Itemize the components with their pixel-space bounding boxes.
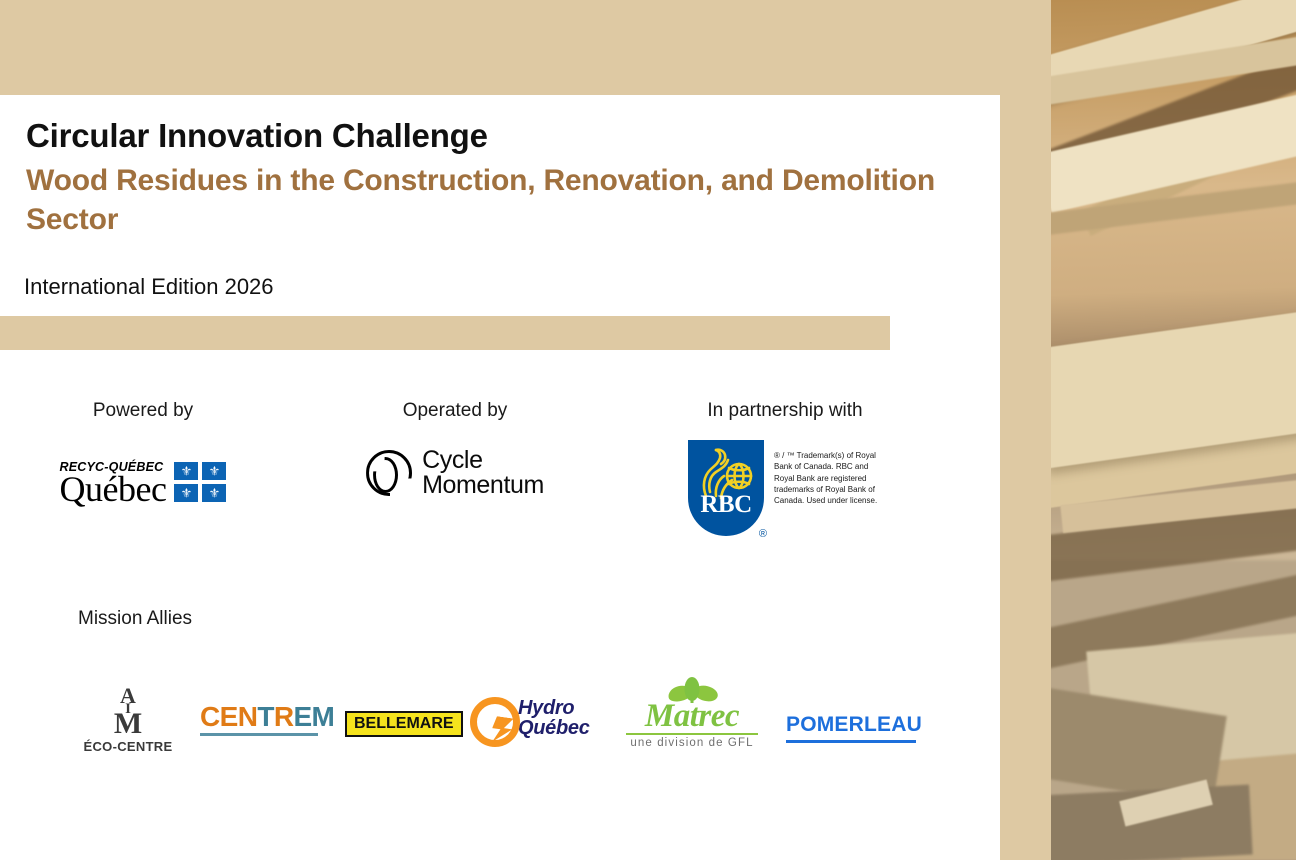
fleur-de-lis-icon <box>202 484 226 502</box>
hydro-quebec-wordmark: Hydro Québec <box>518 698 590 739</box>
page-title: Circular Innovation Challenge <box>26 118 976 154</box>
aim-monogram-icon: A I M <box>97 685 159 735</box>
centrem-part2: T <box>257 701 274 732</box>
cycle-momentum-logo: Cycle Momentum <box>340 440 570 506</box>
hydro-quebec-line2: Québec <box>518 718 590 738</box>
recyc-quebec-wordmark: RECYC-QUÉBEC Québec <box>60 460 167 506</box>
rbc-shield-icon: RBC ® <box>688 440 764 536</box>
centrem-underline <box>200 733 318 736</box>
cycle-momentum-wordmark: Cycle Momentum <box>422 448 544 499</box>
lightning-bolt-icon <box>490 716 513 745</box>
rbc-logo: RBC ® ® / ™ Trademark(s) of Royal Bank o… <box>660 440 910 540</box>
cycle-momentum-line1: Cycle <box>422 448 544 474</box>
hydro-quebec-logo: Hydro Québec <box>468 695 590 741</box>
pomerleau-wordmark: POMERLEAU <box>786 713 922 737</box>
rbc-wordmark: RBC <box>688 491 764 519</box>
fleur-de-lis-icon <box>202 462 226 480</box>
cycle-momentum-line2: Momentum <box>422 473 544 499</box>
in-partnership-heading: In partnership with <box>660 400 910 422</box>
bellemare-wordmark: BELLEMARE <box>345 711 463 737</box>
quebec-flag-icon <box>174 462 226 502</box>
pomerleau-underline <box>786 740 916 743</box>
bellemare-logo: BELLEMARE <box>345 711 463 737</box>
decorative-band <box>0 316 890 350</box>
page-subtitle: Wood Residues in the Construction, Renov… <box>26 162 956 239</box>
pomerleau-logo: POMERLEAU <box>786 713 922 743</box>
aim-letter-m: M <box>114 707 142 741</box>
matrec-sublabel: une division de GFL <box>622 737 762 749</box>
recyc-quebec-logo: RECYC-QUÉBEC Québec <box>28 440 258 506</box>
centrem-part4: EM <box>293 701 334 732</box>
centrem-logo: CENTREM <box>200 703 334 736</box>
sprout-leaf-icon <box>622 677 762 703</box>
fleur-de-lis-icon <box>174 484 198 502</box>
partners-section: Powered by RECYC-QUÉBEC Québec Operated … <box>0 385 1000 555</box>
aim-eco-centre-label: ÉCO-CENTRE <box>78 739 178 754</box>
hydro-quebec-line1: Hydro <box>518 698 590 718</box>
rbc-trademark-notice: ® / ™ Trademark(s) of Royal Bank of Cana… <box>774 450 882 507</box>
registered-mark-icon: ® <box>759 528 767 540</box>
matrec-logo: Matrec une division de GFL <box>622 677 762 749</box>
cycle-ring-icon <box>366 450 412 496</box>
centrem-part1: CEN <box>200 701 257 732</box>
mission-allies-row: A I M ÉCO-CENTRE CENTREM BELLEMARE Hydro… <box>0 675 1000 785</box>
in-partnership-column: In partnership with <box>660 400 910 540</box>
sprout-leaf-center <box>685 677 700 701</box>
powered-by-column: Powered by RECYC-QUÉBEC Québec <box>28 400 258 506</box>
wood-residues-photo <box>1051 0 1296 860</box>
quebec-wordmark: Québec <box>60 472 167 506</box>
centrem-part3: R <box>274 701 294 732</box>
mission-allies-heading: Mission Allies <box>78 608 192 630</box>
powered-by-heading: Powered by <box>28 400 258 422</box>
operated-by-heading: Operated by <box>340 400 570 422</box>
hydro-quebec-q-icon <box>468 695 514 741</box>
centrem-wordmark: CENTREM <box>200 703 334 731</box>
fleur-de-lis-icon <box>174 462 198 480</box>
aim-eco-centre-logo: A I M ÉCO-CENTRE <box>78 685 178 754</box>
matrec-wordmark: Matrec <box>622 701 762 732</box>
operated-by-column: Operated by Cycle Momentum <box>340 400 570 506</box>
edition-label: International Edition 2026 <box>24 274 274 300</box>
page-title-block: Circular Innovation Challenge Wood Resid… <box>26 118 976 239</box>
